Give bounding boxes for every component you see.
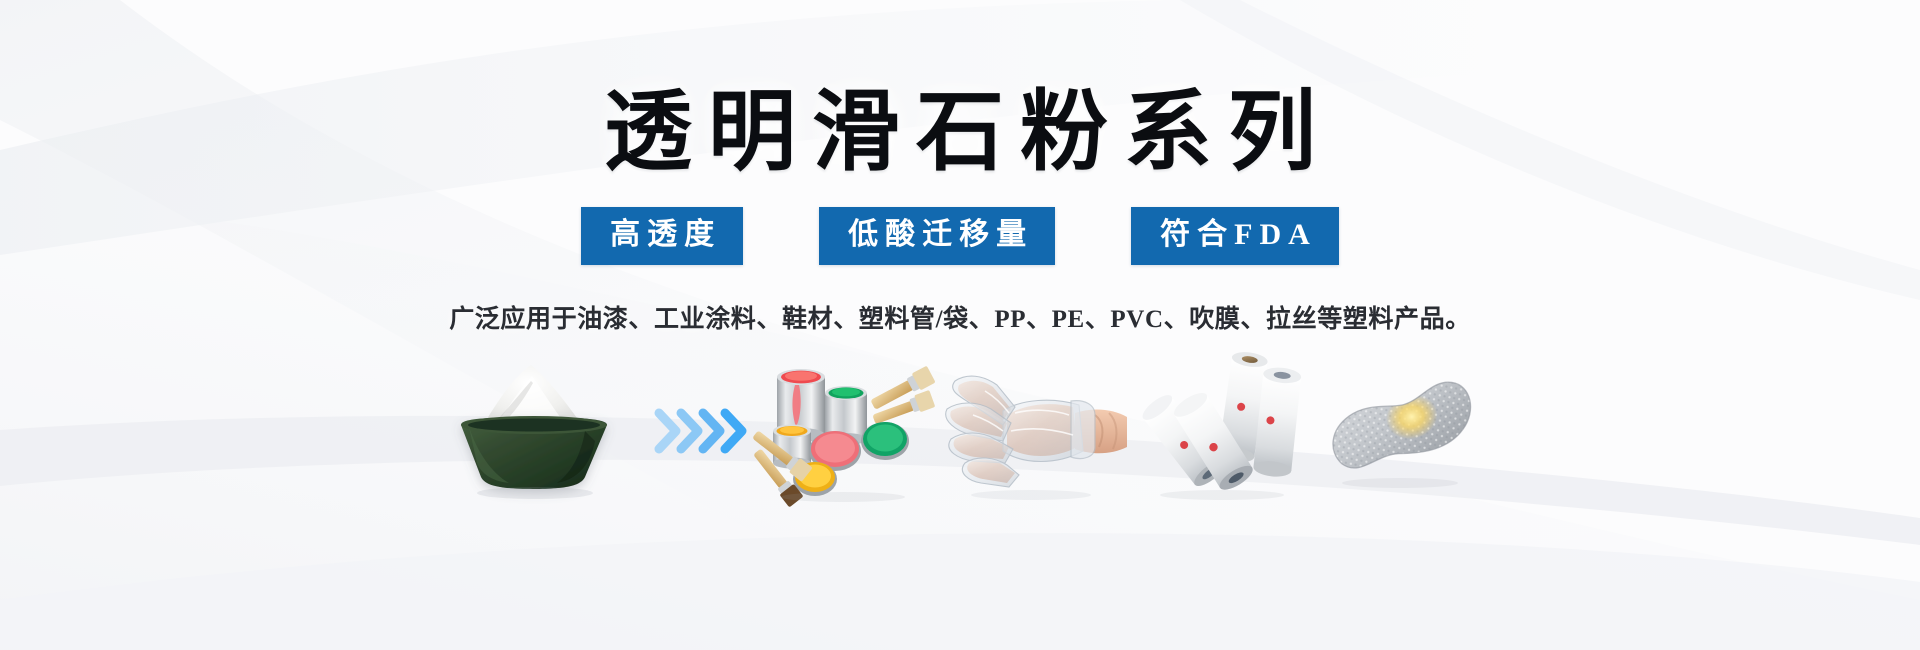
feature-badge-group: 高透度 低酸迁移量 符合FDA — [581, 207, 1339, 265]
shoe-sole-image — [1310, 355, 1485, 505]
plastic-film-rolls-image — [1130, 355, 1310, 505]
product-banner: 透明滑石粉系列 高透度 低酸迁移量 符合FDA 广泛应用于油漆、工业涂料、鞋材、… — [0, 0, 1920, 650]
application-description: 广泛应用于油漆、工业涂料、鞋材、塑料管/袋、PP、PE、PVC、吹膜、拉丝等塑料… — [449, 299, 1471, 335]
badge-low-acid-migration: 低酸迁移量 — [819, 207, 1055, 265]
page-title: 透明滑石粉系列 — [588, 86, 1332, 181]
badge-high-transparency: 高透度 — [581, 207, 743, 265]
talc-powder-bowl-image — [435, 355, 645, 505]
banner-content: 透明滑石粉系列 高透度 低酸迁移量 符合FDA 广泛应用于油漆、工业涂料、鞋材、… — [0, 0, 1920, 650]
plastic-glove-hand-image — [945, 355, 1130, 505]
paint-cans-image — [755, 355, 945, 505]
process-arrows-icon — [645, 355, 755, 505]
product-image-strip — [395, 355, 1525, 505]
badge-fda-compliant: 符合FDA — [1131, 207, 1339, 265]
